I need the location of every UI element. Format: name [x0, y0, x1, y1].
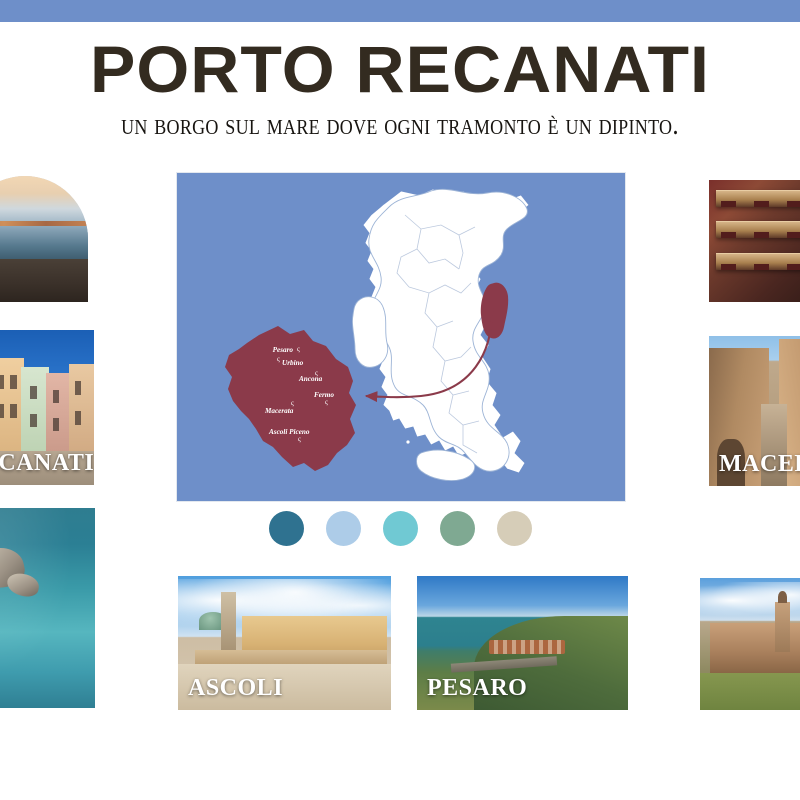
city-dot-ascoli: ς: [298, 435, 301, 443]
islet: [406, 440, 409, 443]
sunset-beach: [0, 259, 88, 302]
sunset-sea: [0, 226, 88, 259]
city-dot-fermo: ς: [325, 398, 328, 406]
swatch-light-blue[interactable]: [326, 511, 361, 546]
building: [46, 373, 71, 451]
swatch-turquoise[interactable]: [383, 511, 418, 546]
italy-map[interactable]: Pesaro ς Urbino ς Ancona ς Fermo ς Macer…: [177, 173, 625, 501]
photo-colored-houses[interactable]: RECANATI: [0, 330, 94, 485]
photo-caption: PESARO: [427, 675, 527, 702]
photo-ascoli-piazza[interactable]: ASCOLI: [178, 576, 391, 710]
city-dot-macerata: ς: [291, 399, 294, 407]
italy-outline: [369, 189, 528, 471]
city-dot-ancona: ς: [315, 369, 318, 377]
poster-canvas: PORTO RECANATI Un borgo sul mare dove og…: [0, 0, 800, 800]
city-dot-urbino: ς: [277, 355, 280, 363]
marche-highlight-on-italy: [481, 283, 508, 339]
green-field: [700, 673, 800, 710]
building: [69, 364, 94, 451]
islet: [420, 283, 422, 285]
photo-urbino-palace[interactable]: [700, 578, 800, 710]
city-dot-pesaro: ς: [297, 345, 300, 353]
swatch-steel-blue[interactable]: [269, 511, 304, 546]
sea-water: [0, 508, 95, 708]
village-roofs: [489, 640, 565, 653]
photo-theatre[interactable]: [709, 180, 800, 302]
islet: [413, 278, 416, 281]
theatre-balcony: [716, 221, 800, 238]
swatch-sand-beige[interactable]: [497, 511, 532, 546]
city-label-macerata: Macerata: [264, 407, 294, 415]
map-card[interactable]: Pesaro ς Urbino ς Ancona ς Fermo ς Macer…: [176, 172, 626, 502]
top-banner: [0, 0, 800, 22]
palace-tower: [775, 602, 789, 652]
photo-macerata-street[interactable]: MACERATA: [709, 336, 800, 486]
swatch-sage-green[interactable]: [440, 511, 475, 546]
theatre-balcony: [716, 190, 800, 207]
photo-sea-rocks[interactable]: [0, 508, 95, 708]
city-label-ancona: Ancona: [298, 375, 323, 383]
theatre-balcony: [716, 253, 800, 270]
poster-header: PORTO RECANATI Un borgo sul mare dove og…: [0, 36, 800, 137]
photo-caption: ASCOLI: [188, 675, 283, 702]
city-label-ascoli-piceno: Ascoli Piceno: [268, 428, 310, 436]
color-palette: [176, 508, 624, 548]
photo-pesaro-coast[interactable]: PESARO: [417, 576, 628, 710]
photo-caption: MACERATA: [719, 451, 800, 478]
photo-beach-sunset[interactable]: I: [0, 176, 88, 302]
sardinia: [352, 297, 387, 368]
city-label-urbino: Urbino: [282, 359, 304, 367]
bell-tower: [221, 592, 236, 652]
city-label-pesaro: Pesaro: [273, 346, 294, 354]
page-subtitle: Un borgo sul mare dove ogni tramonto è u…: [0, 109, 800, 142]
building: [21, 367, 49, 451]
photo-caption: RECANATI: [0, 450, 94, 477]
page-title: PORTO RECANATI: [0, 36, 800, 103]
